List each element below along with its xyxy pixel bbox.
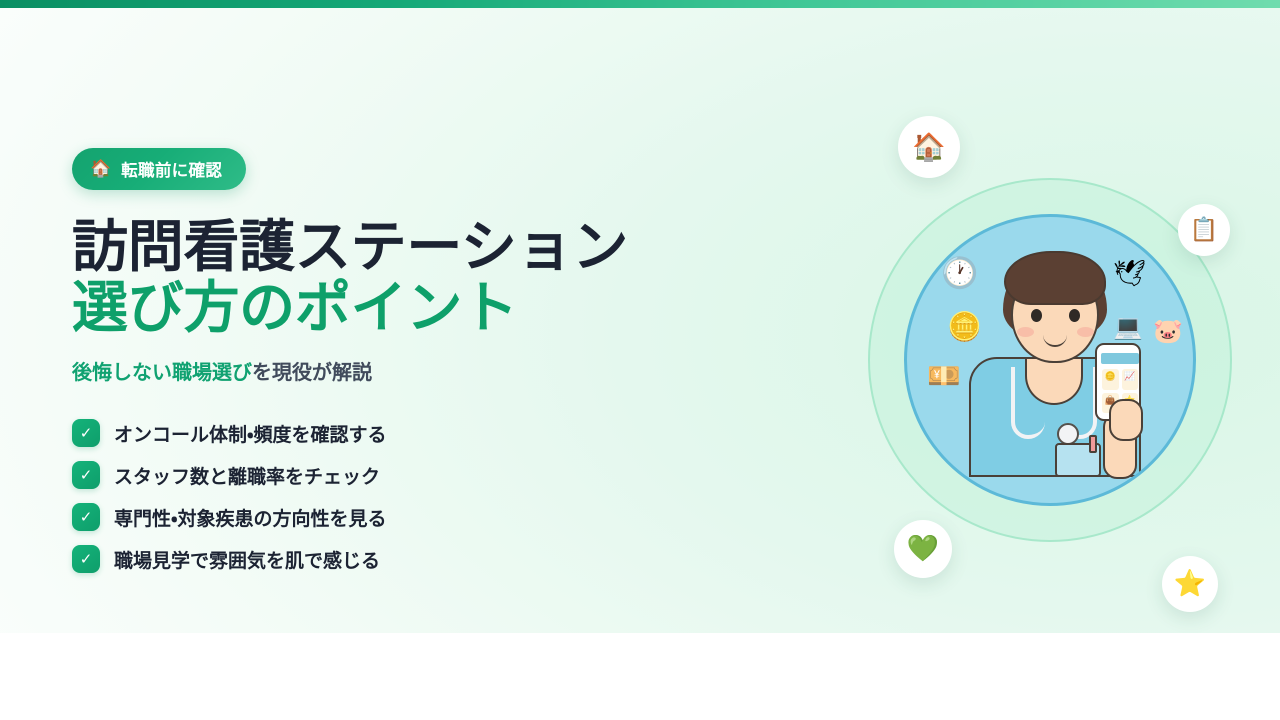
list-item[interactable]: ✓ スタッフ数と離職率をチェック bbox=[72, 454, 692, 496]
top-accent-bar bbox=[0, 0, 1280, 8]
house-icon: 🏠 bbox=[912, 134, 946, 161]
nurse-eye-left bbox=[1031, 309, 1042, 322]
piggy-bank-icon: 🐷 bbox=[1153, 319, 1183, 343]
check-icon: ✓ bbox=[72, 419, 100, 447]
clipboard-icon: 📋 bbox=[1190, 219, 1219, 242]
page-subtitle: 後悔しない職場選びを現役が解説 bbox=[72, 360, 692, 386]
house-icon: 🏠 bbox=[90, 161, 111, 178]
nurse-cheek-left bbox=[1017, 327, 1034, 337]
pen-icon bbox=[1089, 435, 1097, 453]
hero-illustration: 🕐 🪙 💴 🕊 💻 🐷 bbox=[868, 178, 1232, 562]
dove-icon: 🕊 bbox=[1113, 261, 1146, 287]
checklist: ✓ オンコール体制・頻度を確認する ✓ スタッフ数と離職率をチェック ✓ 専門性… bbox=[72, 412, 692, 580]
nurse-eye-right bbox=[1069, 309, 1080, 322]
stethoscope-left-tube bbox=[1011, 367, 1045, 439]
check-icon: ✓ bbox=[72, 503, 100, 531]
clipboard-badge: 📋 bbox=[1178, 204, 1230, 256]
eyebrow-badge[interactable]: 🏠 転職前に確認 bbox=[72, 148, 246, 190]
nurse-illustration: 🕐 🪙 💴 🕊 💻 🐷 bbox=[907, 217, 1193, 503]
checklist-item-label: 専門性・対象疾患の方向性を見る bbox=[114, 504, 386, 531]
star-icon: ⭐ bbox=[1174, 571, 1206, 597]
stethoscope-chestpiece bbox=[1057, 423, 1079, 445]
green-heart-badge: 💚 bbox=[894, 520, 952, 578]
checklist-item-label: スタッフ数と離職率をチェック bbox=[114, 462, 380, 489]
list-item[interactable]: ✓ オンコール体制・頻度を確認する bbox=[72, 412, 692, 454]
eyebrow-badge-label: 転職前に確認 bbox=[121, 157, 222, 181]
checklist-item-label: 職場見学で雰囲気を肌で感じる bbox=[114, 546, 380, 573]
hero-copy-column: 🏠 転職前に確認 訪問看護ステーション 選び方のポイント 後悔しない職場選びを現… bbox=[72, 148, 692, 580]
banknote-icon: 💴 bbox=[927, 363, 961, 390]
subtitle-accent-text: 後悔しない職場選び bbox=[72, 362, 252, 384]
star-badge: ⭐ bbox=[1162, 556, 1218, 612]
nurse-hair-front bbox=[1004, 251, 1106, 305]
winged-clock-icon: 🕐 bbox=[941, 259, 978, 289]
smartphone-grid-cell: 🪙 bbox=[1102, 369, 1119, 390]
subtitle-plain-text: を現役が解説 bbox=[252, 362, 372, 384]
smartphone-header-bar bbox=[1101, 353, 1139, 364]
page-title-line-2: 選び方のポイント bbox=[72, 277, 692, 338]
smartphone-grid-cell: 📈 bbox=[1122, 369, 1139, 390]
checklist-item-label: オンコール体制・頻度を確認する bbox=[114, 420, 386, 447]
page-title-line-1: 訪問看護ステーション bbox=[72, 216, 692, 277]
nurse-cheek-right bbox=[1077, 327, 1094, 337]
check-icon: ✓ bbox=[72, 545, 100, 573]
check-icon: ✓ bbox=[72, 461, 100, 489]
list-item[interactable]: ✓ 職場見学で雰囲気を肌で感じる bbox=[72, 538, 692, 580]
illustration-disc: 🕐 🪙 💴 🕊 💻 🐷 bbox=[904, 214, 1196, 506]
green-heart-icon: 💚 bbox=[907, 536, 939, 562]
hero-section: 🏠 転職前に確認 訪問看護ステーション 選び方のポイント 後悔しない職場選びを現… bbox=[0, 8, 1280, 633]
coins-icon: 🪙 bbox=[947, 313, 982, 341]
page-title: 訪問看護ステーション 選び方のポイント bbox=[72, 216, 692, 338]
nurse-hand bbox=[1109, 399, 1143, 441]
list-item[interactable]: ✓ 専門性・対象疾患の方向性を見る bbox=[72, 496, 692, 538]
house-badge: 🏠 bbox=[898, 116, 960, 178]
hero-page: 🏠 転職前に確認 訪問看護ステーション 選び方のポイント 後悔しない職場選びを現… bbox=[0, 0, 1280, 720]
chart-laptop-icon: 💻 bbox=[1113, 315, 1143, 339]
